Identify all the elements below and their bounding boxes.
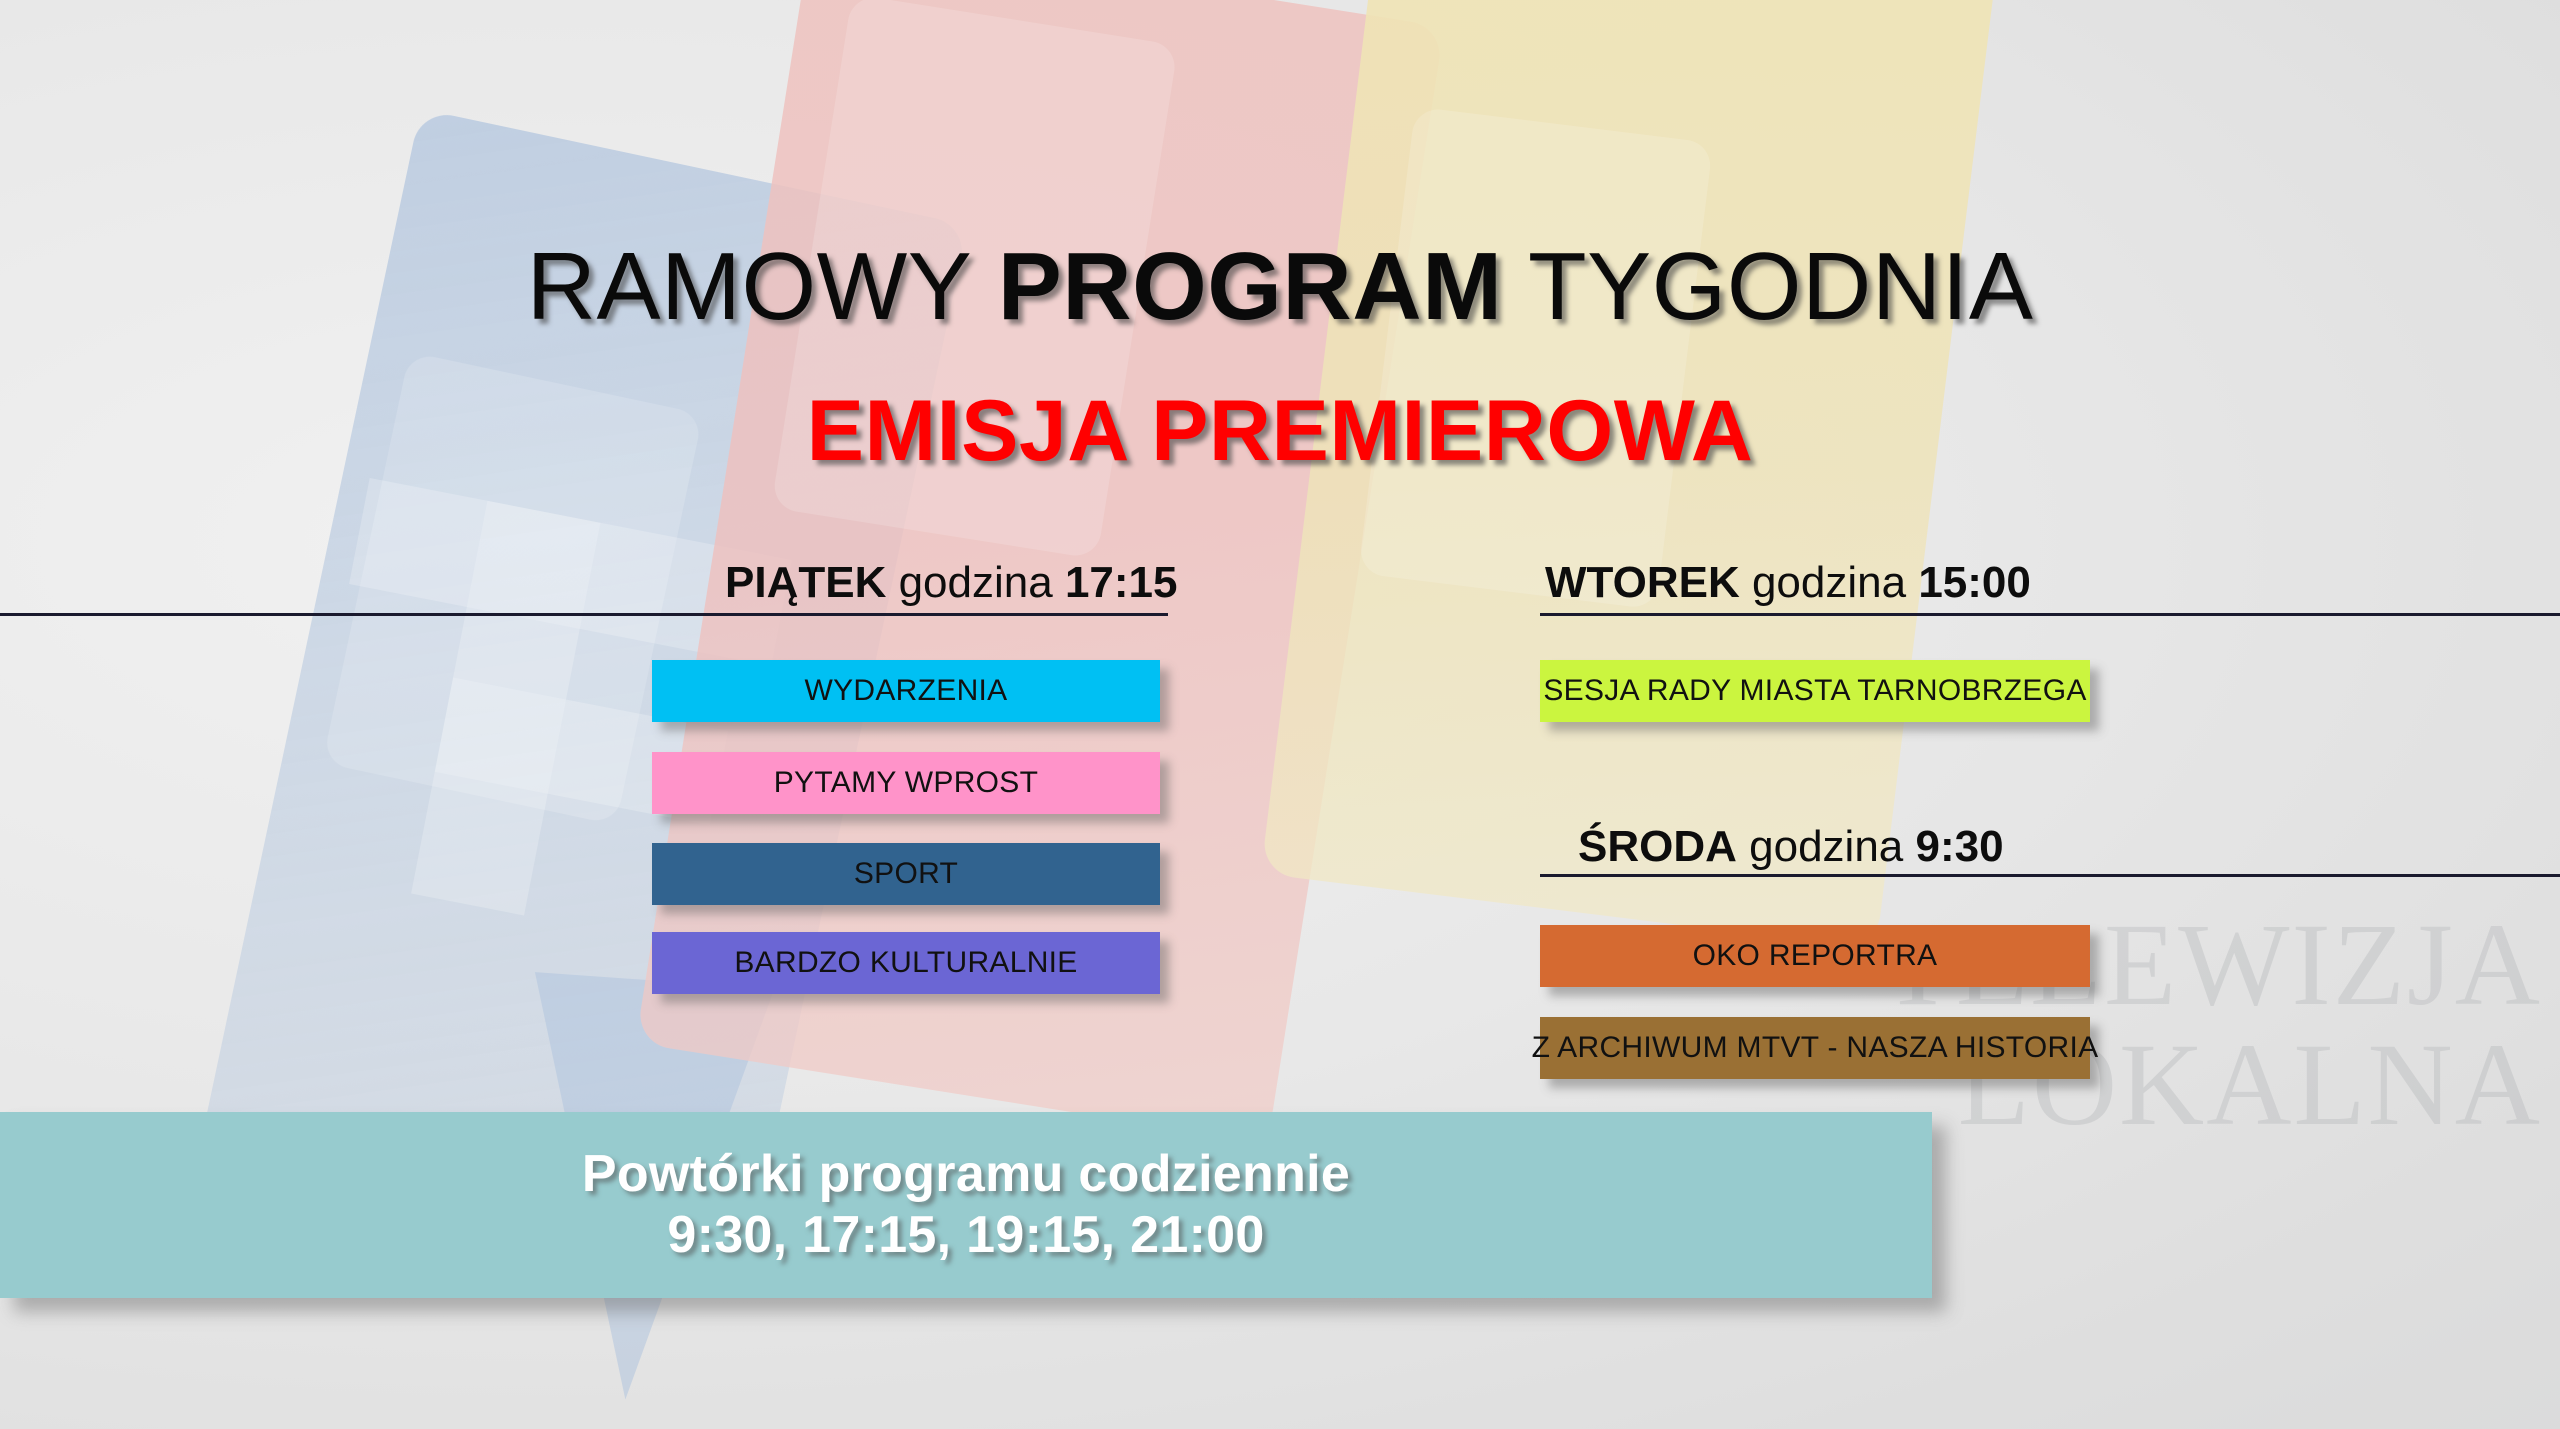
program-label: Z ARCHIWUM MTVT - NASZA HISTORIA bbox=[1532, 1031, 2099, 1065]
page-subtitle: EMISJA PREMIEROWA bbox=[0, 382, 2560, 481]
day-name-wednesday: ŚRODA bbox=[1578, 822, 1737, 871]
tv-logo-bar bbox=[411, 501, 600, 916]
day-time-friday: 17:15 bbox=[1065, 558, 1178, 607]
program-bar-bardzo-kulturalnie[interactable]: BARDZO KULTURALNIE bbox=[652, 932, 1160, 994]
program-bar-sport[interactable]: SPORT bbox=[652, 843, 1160, 905]
title-emphasis: PROGRAM bbox=[998, 233, 1503, 340]
repeats-banner-line-1: Powtórki programu codziennie bbox=[582, 1144, 1350, 1205]
program-label: SESJA RADY MIASTA TARNOBRZEGA bbox=[1543, 674, 2086, 708]
day-time-tuesday: 15:00 bbox=[1918, 558, 2031, 607]
rule-friday bbox=[0, 613, 1168, 616]
godzina-label: godzina bbox=[886, 558, 1065, 607]
program-bar-z-archiwum-mtvt[interactable]: Z ARCHIWUM MTVT - NASZA HISTORIA bbox=[1540, 1017, 2090, 1079]
program-label: WYDARZENIA bbox=[804, 674, 1007, 708]
day-heading-wednesday: ŚRODA godzina 9:30 bbox=[1578, 822, 2004, 872]
program-bar-wydarzenia[interactable]: WYDARZENIA bbox=[652, 660, 1160, 722]
rule-wednesday bbox=[1540, 874, 2560, 877]
title-prefix: RAMOWY bbox=[527, 233, 998, 340]
program-bar-oko-reportra[interactable]: OKO REPORTRA bbox=[1540, 925, 2090, 987]
day-name-friday: PIĄTEK bbox=[725, 558, 886, 607]
program-label: OKO REPORTRA bbox=[1693, 939, 1938, 973]
page-title: RAMOWY PROGRAM TYGODNIA bbox=[0, 235, 2560, 339]
day-name-tuesday: WTOREK bbox=[1545, 558, 1740, 607]
title-suffix: TYGODNIA bbox=[1503, 233, 2034, 340]
program-label: BARDZO KULTURALNIE bbox=[734, 946, 1077, 980]
day-heading-tuesday: WTOREK godzina 15:00 bbox=[1545, 558, 2031, 608]
godzina-label: godzina bbox=[1740, 558, 1919, 607]
godzina-label: godzina bbox=[1737, 822, 1916, 871]
program-label: SPORT bbox=[854, 857, 958, 891]
repeats-banner: Powtórki programu codziennie 9:30, 17:15… bbox=[0, 1112, 1932, 1298]
program-bar-pytamy-wprost[interactable]: PYTAMY WPROST bbox=[652, 752, 1160, 814]
slide-canvas: TELEWIZJA LOKALNA RAMOWY PROGRAM TYGODNI… bbox=[0, 0, 2560, 1429]
program-label: PYTAMY WPROST bbox=[774, 766, 1038, 800]
repeats-banner-line-2: 9:30, 17:15, 19:15, 21:00 bbox=[667, 1205, 1264, 1266]
program-bar-sesja-rady-miasta[interactable]: SESJA RADY MIASTA TARNOBRZEGA bbox=[1540, 660, 2090, 722]
day-time-wednesday: 9:30 bbox=[1915, 822, 2003, 871]
day-heading-friday: PIĄTEK godzina 17:15 bbox=[725, 558, 1177, 608]
rule-tuesday bbox=[1540, 613, 2560, 616]
card-highlight bbox=[1358, 107, 1713, 610]
